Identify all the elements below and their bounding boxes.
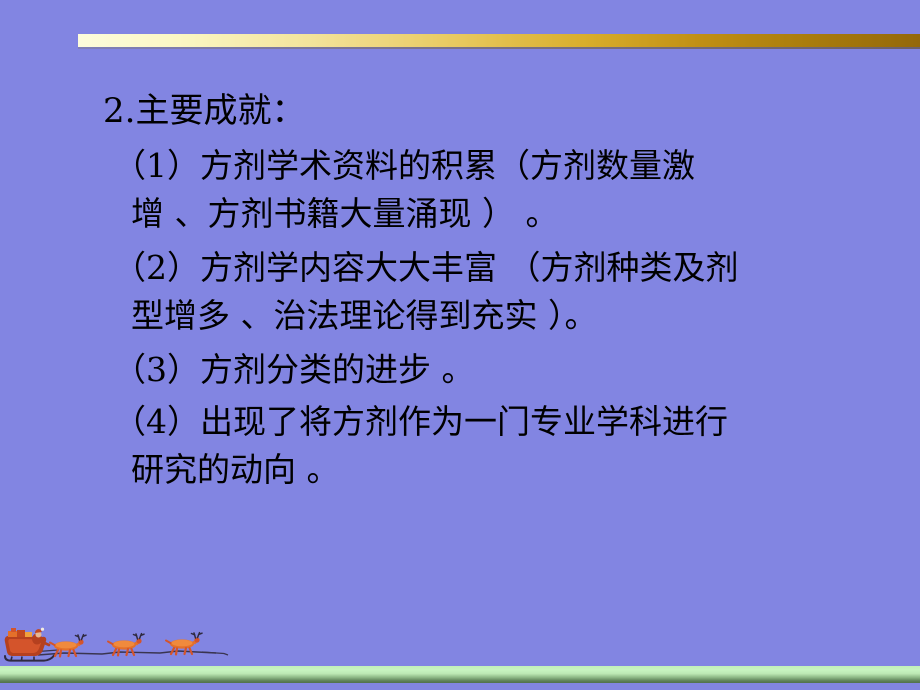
page-title: 2.主要成就： bbox=[103, 88, 920, 134]
bullet-item-4: （4）出现了将方剂作为一门专业学科进行 研究的动向 。 bbox=[0, 398, 920, 494]
santa-sleigh-icon bbox=[2, 622, 232, 670]
bullet-2-line-1: （2）方剂学内容大大丰富 （方剂种类及剂 bbox=[113, 244, 920, 292]
bullet-item-3: （3）方剂分类的进步 。 bbox=[0, 346, 920, 394]
gold-gradient-rule-shadow bbox=[78, 47, 920, 49]
bullet-3-line-1: （3）方剂分类的进步 。 bbox=[113, 346, 920, 394]
bullet-1-line-1: （1）方剂学术资料的积累（方剂数量激 bbox=[113, 142, 920, 190]
bullet-2-line-2: 型增多 、治法理论得到充实 ）。 bbox=[131, 292, 920, 340]
bullet-4-line-2: 研究的动向 。 bbox=[131, 446, 920, 494]
bullet-1-line-2: 增 、方剂书籍大量涌现 ） 。 bbox=[131, 190, 920, 238]
slide-content: 2.主要成就： （1）方剂学术资料的积累（方剂数量激 增 、方剂书籍大量涌现 ）… bbox=[0, 88, 920, 500]
gold-gradient-rule bbox=[78, 34, 920, 47]
bullet-4-line-1: （4）出现了将方剂作为一门专业学科进行 bbox=[113, 398, 920, 446]
bullet-item-2: （2）方剂学内容大大丰富 （方剂种类及剂 型增多 、治法理论得到充实 ）。 bbox=[0, 244, 920, 340]
slide-canvas: 2.主要成就： （1）方剂学术资料的积累（方剂数量激 增 、方剂书籍大量涌现 ）… bbox=[0, 0, 920, 690]
bullet-item-1: （1）方剂学术资料的积累（方剂数量激 增 、方剂书籍大量涌现 ） 。 bbox=[0, 142, 920, 238]
